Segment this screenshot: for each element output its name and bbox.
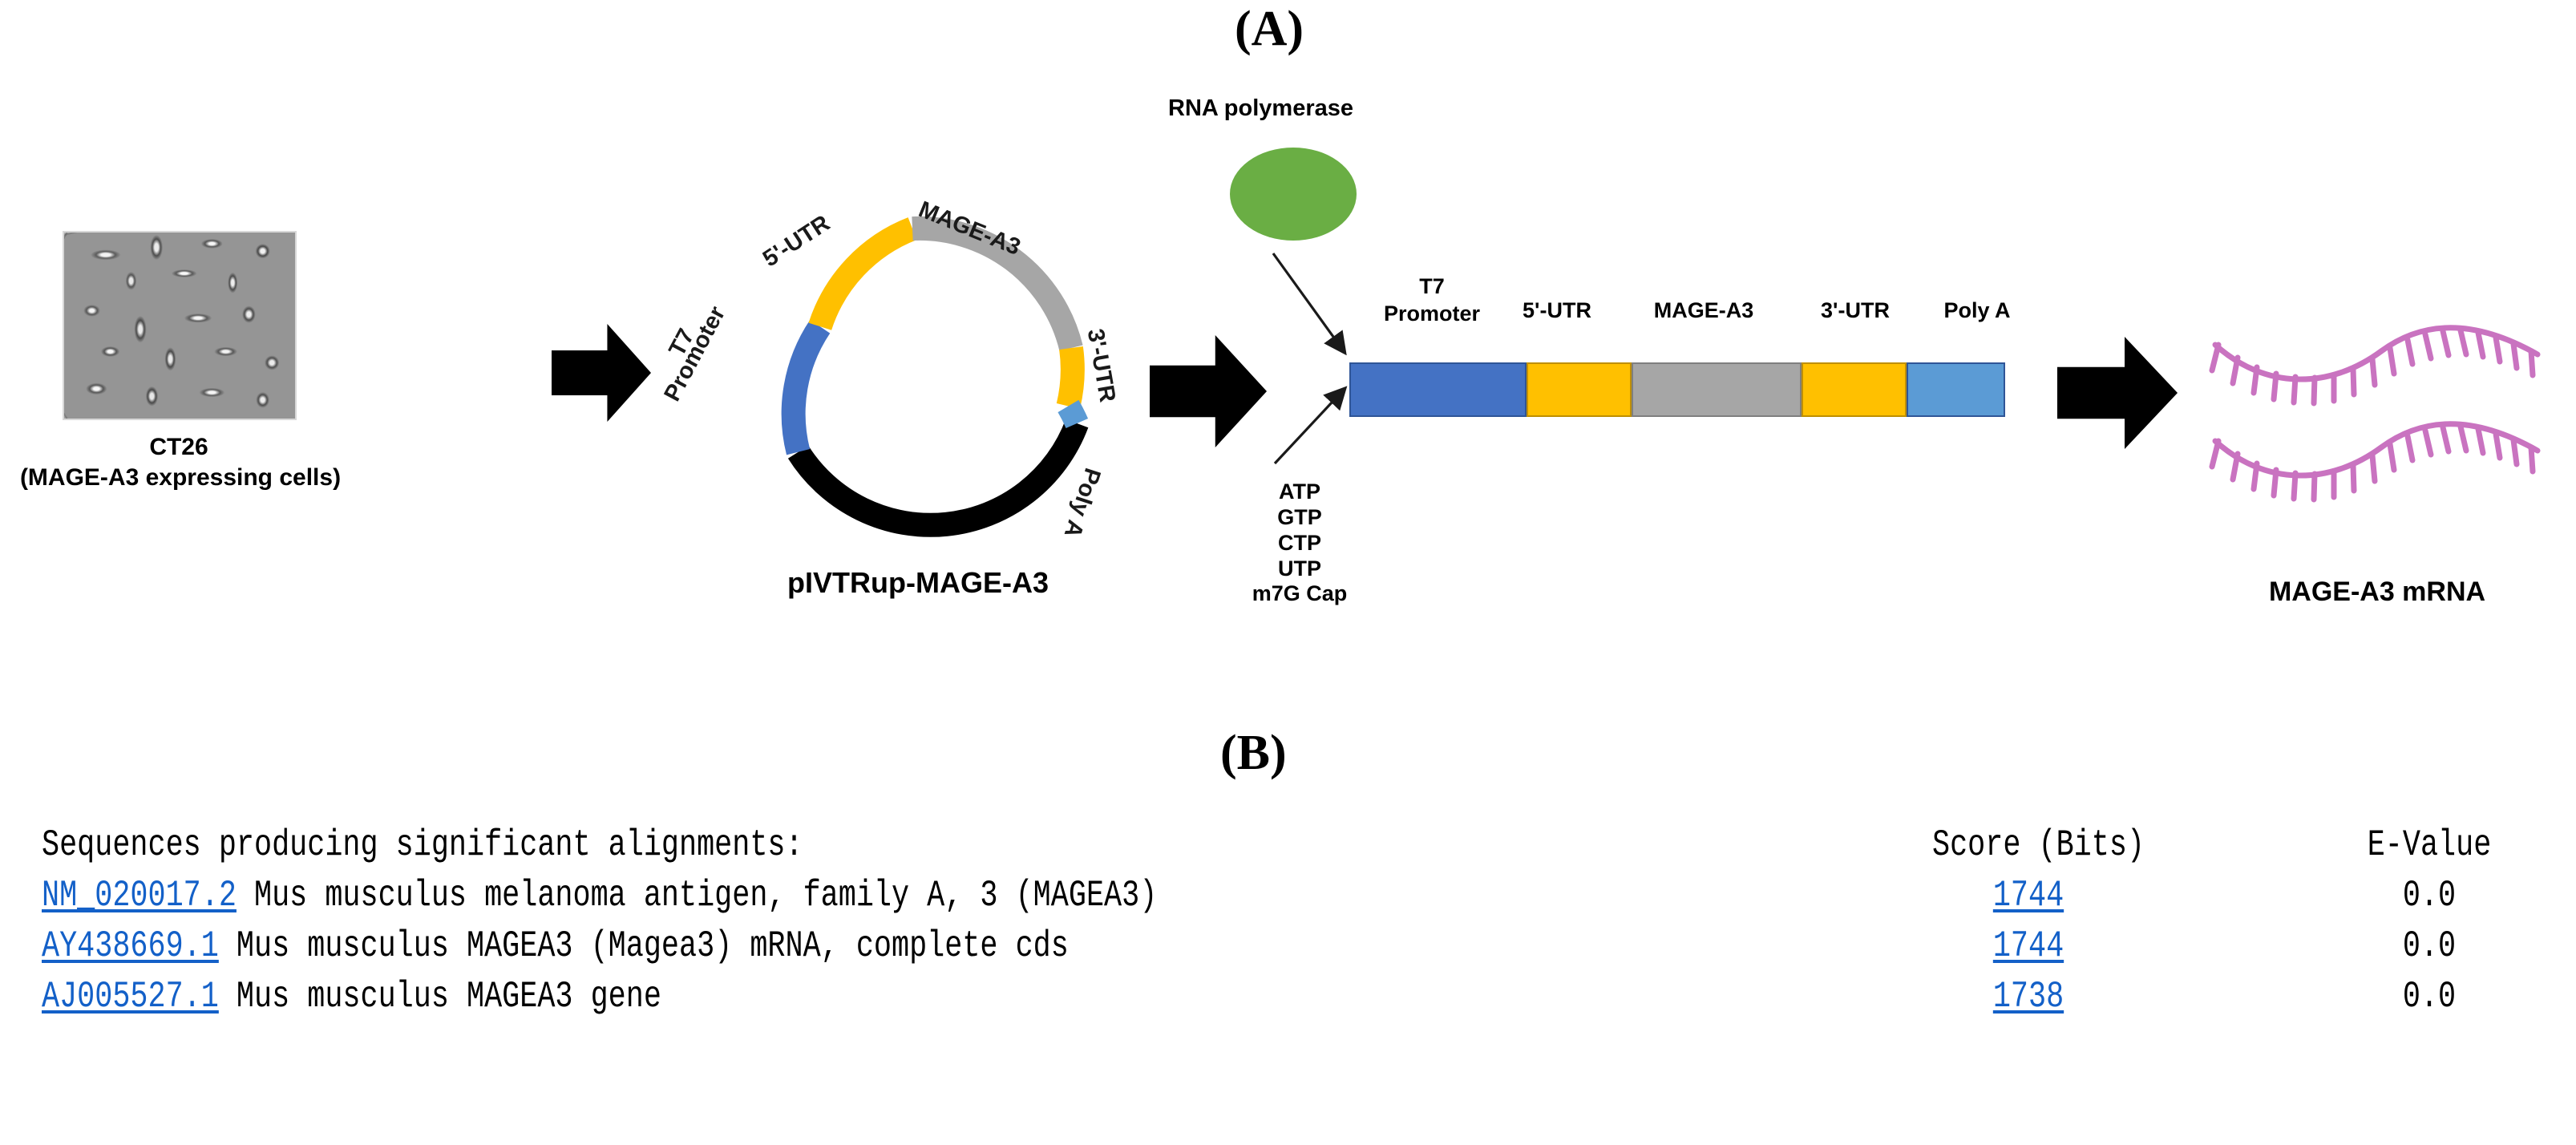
- ct26-caption-name: CT26: [47, 433, 311, 463]
- score-link[interactable]: 1738: [1993, 976, 2064, 1018]
- rna-polymerase-icon: [1230, 148, 1357, 241]
- mrna-backbone: [2215, 328, 2538, 379]
- ct26-caption-subtitle: (MAGE-A3 expressing cells): [0, 463, 369, 493]
- score-link[interactable]: 1744: [1993, 925, 2064, 967]
- ct26-micrograph: [63, 231, 297, 420]
- mrna-caption: MAGE-A3 mRNA: [2165, 576, 2576, 609]
- arrow-construct-to-mrna: [2057, 337, 2178, 449]
- construct-segment-polya: [1907, 362, 2005, 417]
- mrna-ticks: [2212, 330, 2533, 403]
- blast-row-title: Mus musculus melanoma antigen, family A,…: [237, 875, 1157, 916]
- blast-row-description: AJ005527.1 Mus musculus MAGEA3 gene: [42, 976, 661, 1018]
- mrna-strands: [2209, 313, 2546, 521]
- plasmid-arc-polya: [1068, 407, 1077, 424]
- construct-label-polya: Poly A: [1913, 298, 2041, 324]
- reagent-item: ATP: [1239, 479, 1360, 505]
- blast-row-evalue: 0.0: [2339, 976, 2519, 1018]
- blast-row-score: 1744: [1932, 875, 2125, 916]
- construct-segment-3utr: [1802, 362, 1907, 417]
- construct-segment-5utr: [1527, 362, 1632, 417]
- plasmid-map: T7 Promoter 5'-UTR MAGE-A3 3'-UTR Poly A…: [685, 152, 1151, 617]
- blast-results-table: Sequences producing significant alignmen…: [0, 824, 2576, 1026]
- construct-label-t7-line1: T7: [1363, 274, 1501, 300]
- panel-a-label: (A): [1235, 4, 1304, 54]
- arrow-plasmid-to-construct: [1150, 335, 1267, 447]
- blast-row: AY438669.1 Mus musculus MAGEA3 (Magea3) …: [0, 925, 2576, 976]
- blast-row-title: Mus musculus MAGEA3 gene: [219, 976, 661, 1018]
- blast-row-description: NM_020017.2 Mus musculus melanoma antige…: [42, 875, 1157, 916]
- construct-label-mage-a3: MAGE-A3: [1616, 298, 1791, 324]
- construct-label-5utr: 5'-UTR: [1486, 298, 1628, 324]
- blast-row-score: 1744: [1932, 925, 2125, 967]
- blast-header-row: Sequences producing significant alignmen…: [0, 824, 2576, 875]
- construct-label-3utr: 3'-UTR: [1785, 298, 1926, 324]
- blast-row: NM_020017.2 Mus musculus melanoma antige…: [0, 875, 2576, 925]
- score-link[interactable]: 1744: [1993, 875, 2064, 916]
- reagents-list: ATP GTP CTP UTP m7G Cap: [1239, 479, 1360, 607]
- blast-row: AJ005527.1 Mus musculus MAGEA3 gene 1738…: [0, 976, 2576, 1026]
- mrna-ticks: [2212, 427, 2533, 500]
- blast-row-evalue: 0.0: [2339, 875, 2519, 916]
- reagent-item: GTP: [1239, 505, 1360, 531]
- panel-b-label: (B): [1220, 728, 1287, 778]
- mrna-backbone: [2215, 424, 2538, 475]
- accession-link[interactable]: NM_020017.2: [42, 875, 237, 916]
- rna-polymerase-label: RNA polymerase: [1168, 95, 1353, 122]
- construct-segment-t7-promoter: [1349, 362, 1527, 417]
- plasmid-arc-5utr: [820, 229, 912, 326]
- reagent-item: UTP: [1239, 556, 1360, 582]
- accession-link[interactable]: AJ005527.1: [42, 976, 219, 1018]
- mrna-svg: [2209, 313, 2546, 521]
- arrow-polymerase-to-promoter: [1273, 253, 1344, 351]
- micrograph-texture: [64, 233, 295, 419]
- reagent-item: CTP: [1239, 531, 1360, 556]
- construct-segment-mage-a3: [1632, 362, 1802, 417]
- reagent-item: m7G Cap: [1239, 581, 1360, 607]
- linear-construct: [1349, 362, 2005, 417]
- blast-row-description: AY438669.1 Mus musculus MAGEA3 (Magea3) …: [42, 925, 1069, 967]
- blast-header-description: Sequences producing significant alignmen…: [42, 824, 803, 866]
- construct-label-t7-line2: Promoter: [1363, 301, 1501, 327]
- plasmid-arc-t7-promoter: [794, 326, 820, 452]
- arrow-reagents-to-promoter: [1275, 390, 1344, 463]
- accession-link[interactable]: AY438669.1: [42, 925, 219, 967]
- plasmid-arc-backbone: [799, 423, 1078, 525]
- blast-row-score: 1738: [1932, 976, 2125, 1018]
- plasmid-title: pIVTRup-MAGE-A3: [685, 566, 1151, 600]
- blast-row-title: Mus musculus MAGEA3 (Magea3) mRNA, compl…: [219, 925, 1069, 967]
- plasmid-arc-3utr: [1068, 348, 1072, 407]
- blast-header-evalue: E-Value: [2339, 824, 2519, 866]
- blast-header-score: Score (Bits): [1932, 824, 2125, 866]
- blast-row-evalue: 0.0: [2339, 925, 2519, 967]
- arrow-cells-to-plasmid: [552, 324, 651, 422]
